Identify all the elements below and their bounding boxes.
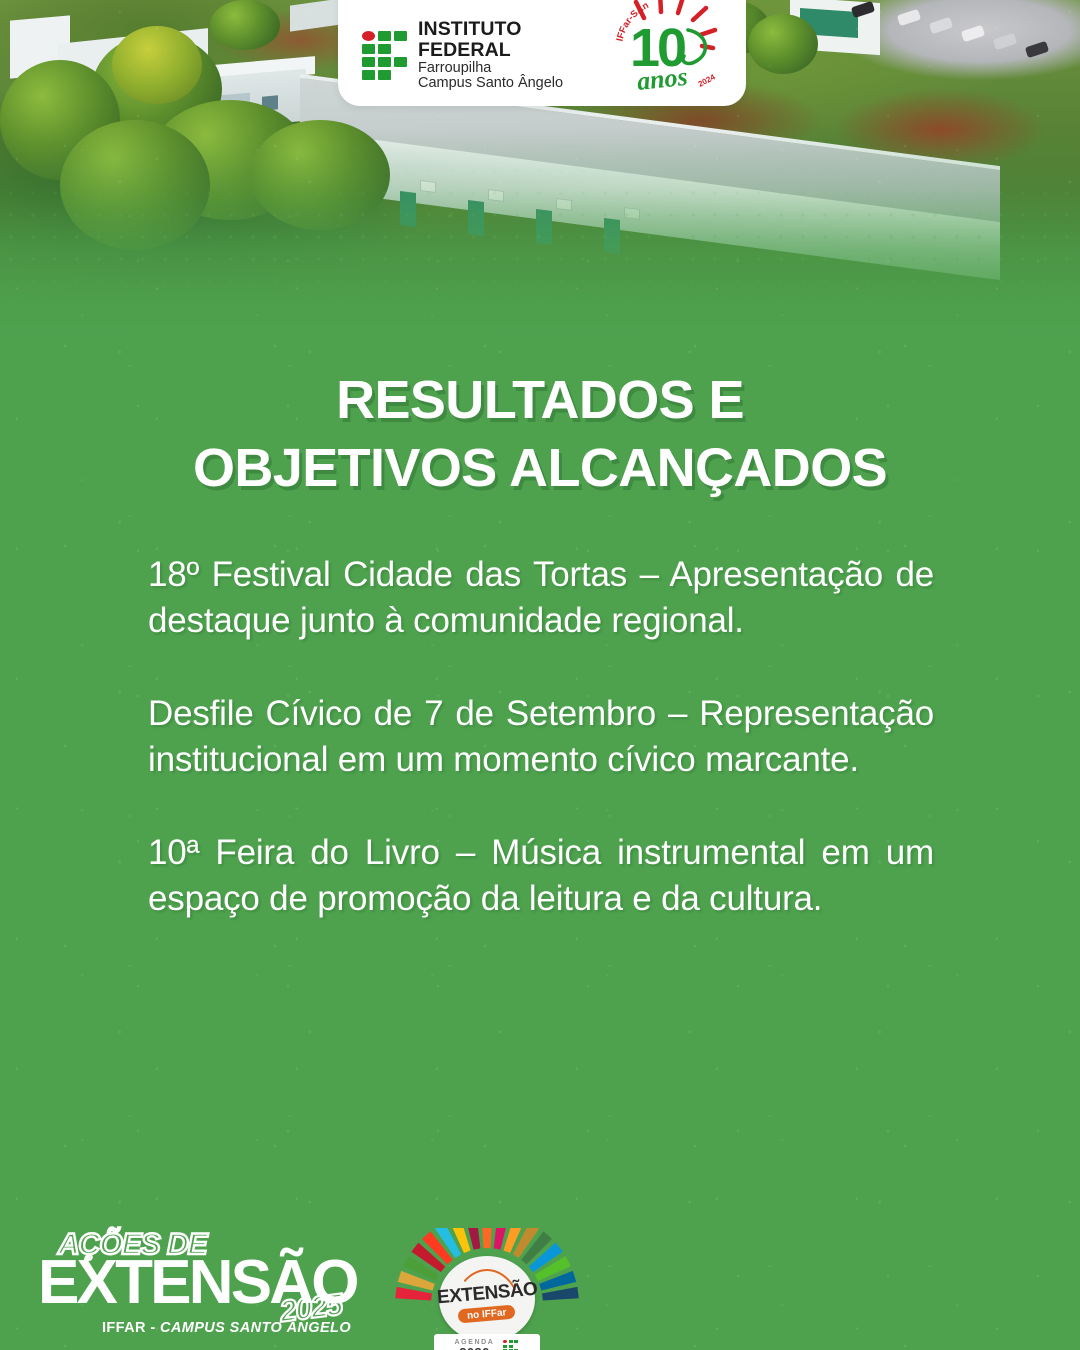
mini-if-grid-icon bbox=[503, 1340, 519, 1350]
results-list: 18º Festival Cidade das Tortas – Apresen… bbox=[148, 552, 934, 921]
institution-name: INSTITUTO FEDERAL bbox=[418, 19, 604, 61]
if-grid-icon bbox=[362, 31, 407, 79]
instituto-federal-logo: INSTITUTO FEDERAL Farroupilha Campus San… bbox=[362, 19, 604, 92]
result-item: Desfile Cívico de 7 de Setembro – Repres… bbox=[148, 691, 934, 782]
poster-canvas: INSTITUTO FEDERAL Farroupilha Campus San… bbox=[0, 0, 1080, 1350]
agenda-2030-card: AGENDA 2030 bbox=[434, 1334, 540, 1350]
result-item: 18º Festival Cidade das Tortas – Apresen… bbox=[148, 552, 934, 643]
sdg-ring-segment bbox=[481, 1228, 492, 1248]
header-logo-card: INSTITUTO FEDERAL Farroupilha Campus San… bbox=[338, 0, 746, 106]
lockup-campus-name: CAMPUS SANTO ÂNGELO bbox=[160, 1320, 351, 1336]
anniversary-icon: IFFar-SAn 10 anos 2024 bbox=[614, 0, 732, 98]
institution-line2: Farroupilha bbox=[418, 61, 604, 77]
anniversary-10-anos-logo: IFFar-SAn 10 anos 2024 bbox=[614, 0, 732, 92]
acoes-extensao-lockup: AÇÕES DE EXTENSÃO 2025 IFFAR - CAMPUS SA… bbox=[26, 1228, 372, 1336]
agenda-year: 2030 bbox=[455, 1346, 495, 1350]
title-line-2: OBJETIVOS ALCANÇADOS bbox=[0, 434, 1080, 502]
title-line-1: RESULTADOS E bbox=[336, 370, 744, 430]
institution-name-block: INSTITUTO FEDERAL Farroupilha Campus San… bbox=[418, 19, 604, 92]
emblem-center-badge: EXTENSÃO no IFFar bbox=[439, 1256, 535, 1342]
page-title: RESULTADOS E OBJETIVOS ALCANÇADOS bbox=[0, 366, 1080, 502]
svg-text:anos: anos bbox=[636, 62, 689, 96]
svg-text:2024: 2024 bbox=[697, 72, 717, 89]
result-item: 10ª Feira do Livro – Música instrumental… bbox=[148, 830, 934, 921]
institution-line3: Campus Santo Ângelo bbox=[418, 76, 604, 92]
agenda-2030-label: AGENDA 2030 bbox=[455, 1339, 495, 1350]
extensao-no-iffar-emblem: EXTENSÃO no IFFar AGENDA 2030 bbox=[388, 1228, 586, 1350]
emblem-title: EXTENSÃO bbox=[436, 1279, 538, 1310]
lockup-campus-label: IFFAR - CAMPUS SANTO ÂNGELO bbox=[102, 1320, 351, 1336]
lockup-campus-prefix: IFFAR - bbox=[102, 1320, 160, 1336]
